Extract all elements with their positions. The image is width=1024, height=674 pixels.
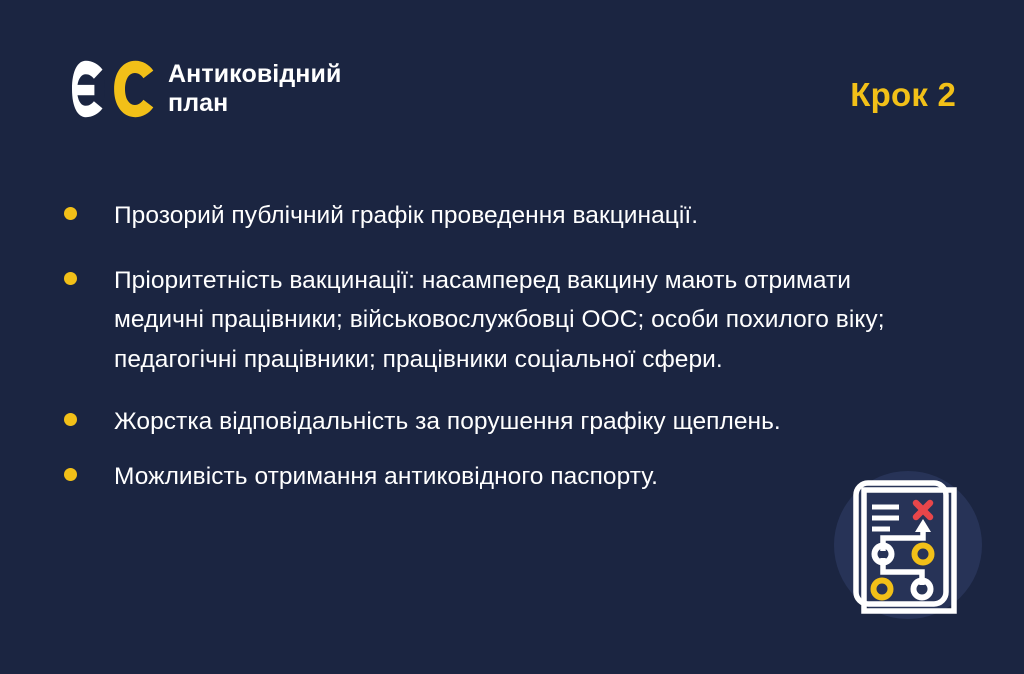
slide-header: Антиковідний план Крок 2 — [0, 0, 1024, 150]
strategy-plan-icon — [826, 462, 992, 628]
bullet-text: Жорстка відповідальність за порушення гр… — [114, 402, 781, 442]
bullet-dot-icon — [64, 413, 77, 426]
step-label: Крок 2 — [850, 76, 956, 114]
slide-root: Антиковідний план Крок 2 Прозорий публіч… — [0, 0, 1024, 674]
bullet-dot-icon — [64, 207, 77, 220]
brand-name: Антиковідний план — [168, 60, 341, 119]
bullet-text: Можливість отримання антиковідного паспо… — [114, 457, 658, 497]
brand-lockup: Антиковідний план — [72, 58, 341, 120]
yes-logo-ec-icon — [72, 58, 154, 120]
bullet-list: Прозорий публічний графік проведення вак… — [64, 196, 904, 497]
list-item: Пріоритетність вакцинації: насамперед ва… — [64, 261, 904, 380]
bullet-dot-icon — [64, 468, 77, 481]
list-item: Прозорий публічний графік проведення вак… — [64, 196, 904, 236]
bullet-dot-icon — [64, 272, 77, 285]
strategy-plan-illustration — [826, 462, 992, 628]
bullet-text: Прозорий публічний графік проведення вак… — [114, 196, 698, 236]
list-item: Можливість отримання антиковідного паспо… — [64, 457, 904, 497]
list-item: Жорстка відповідальність за порушення гр… — [64, 402, 904, 442]
bullet-text: Пріоритетність вакцинації: насамперед ва… — [114, 261, 904, 380]
